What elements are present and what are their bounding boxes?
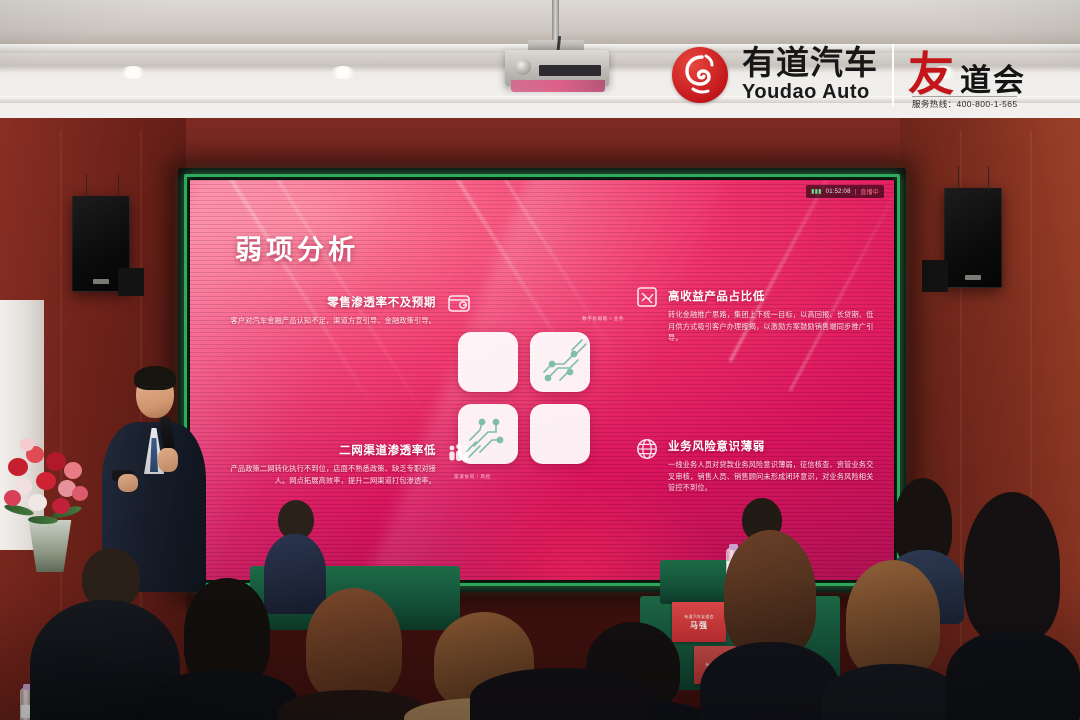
speaker-wire-right xyxy=(958,166,959,190)
speaker-arm-right xyxy=(922,260,948,292)
floral-arrangement xyxy=(2,428,106,560)
globe-icon xyxy=(634,436,660,462)
ceiling-recess xyxy=(0,0,1080,44)
block-body: 产品政策二网转化执行不到位，店面不熟悉政策、缺乏专职对接人。网点拓展高效率，提升… xyxy=(226,463,436,486)
block-heading: 二网渠道渗透率低 xyxy=(226,442,436,458)
audience-member-front-2 xyxy=(148,578,298,720)
projector-reflection xyxy=(511,80,605,92)
primary-brand-text: 有道汽车 Youdao Auto xyxy=(742,46,878,104)
slide-streak-6 xyxy=(789,180,894,391)
block-heading: 业务风险意识薄弱 xyxy=(668,438,878,454)
brand-english: Youdao Auto xyxy=(742,81,878,104)
flower-petal-1 xyxy=(8,458,28,476)
audience-member-front-9 xyxy=(470,668,650,720)
flower-petal-8 xyxy=(4,490,21,506)
slide-title: 弱项分析 xyxy=(235,228,359,267)
signal-bars-icon: ▮▮▮ xyxy=(811,188,822,195)
speaker-wire-left xyxy=(86,174,87,198)
flower-petal-10 xyxy=(52,498,70,514)
block-body: 转化金融推广思路，集团上下统一目标，以高回报、长贷期、低月供方式吸引客户办理按揭… xyxy=(668,309,878,344)
presenter-glasses xyxy=(139,386,171,393)
projector-ports xyxy=(539,65,601,76)
logo-bar: 有道汽车 Youdao Auto 友 道会 服务热线：400-800-1-565 xyxy=(672,44,1026,106)
center-graphic: 数字化赋能 / 业务 xyxy=(458,332,590,464)
chart-decline-icon xyxy=(634,284,660,310)
block-heading: 零售渗透率不及预期 xyxy=(226,294,436,310)
wallet-icon xyxy=(446,290,472,316)
flower-petal-4 xyxy=(64,462,82,479)
center-caption-top: 数字化赋能 / 业务 xyxy=(582,316,624,322)
flower-petal-6 xyxy=(36,472,56,490)
live-timer: 01:52:08 xyxy=(826,189,851,195)
live-status-text: 直播中 xyxy=(860,187,879,196)
audience-hair xyxy=(964,492,1060,642)
youdao-emblem-icon xyxy=(672,47,728,103)
audience-body xyxy=(700,642,840,720)
audience-body xyxy=(822,664,962,720)
slide-block-secondary-channel: 二网渠道渗透率低 产品政策二网转化执行不到位，店面不熟悉政策、缺乏专职对接人。网… xyxy=(226,442,436,486)
slide-block-high-yield-share: 高收益产品占比低 转化金融推广思路，集团上下统一目标，以高回报、长贷期、低月供方… xyxy=(668,288,878,344)
brand-chinese: 有道汽车 xyxy=(742,46,878,79)
flower-petal-3 xyxy=(46,452,66,471)
logo-divider xyxy=(892,44,894,106)
audience-body xyxy=(470,668,650,720)
tile-plain-1 xyxy=(458,332,518,392)
hotline-text: 服务热线：400-800-1-565 xyxy=(912,96,1017,110)
brand-daohui-chars: 道会 xyxy=(960,65,1026,96)
audience-member-front-8 xyxy=(946,492,1080,720)
brand-you-char: 友 xyxy=(908,54,954,95)
scene-root: 有道汽车 Youdao Auto 友 道会 服务热线：400-800-1-565 xyxy=(0,0,1080,720)
downlight-1 xyxy=(120,66,146,79)
center-caption-bottom: 渠道协同 / 风控 xyxy=(454,474,491,480)
block-heading: 高收益产品占比低 xyxy=(668,288,878,304)
tile-circuit-1 xyxy=(530,332,590,392)
live-separator: | xyxy=(855,189,857,195)
people-group-icon xyxy=(446,440,472,466)
projector xyxy=(505,50,609,86)
audience-hair xyxy=(306,588,402,700)
slide-block-risk-awareness: 业务风险意识薄弱 一线业务人员对贷款业务风险意识薄弱，征信核查、资管业务交叉审核… xyxy=(668,438,878,494)
presenter-other-hand xyxy=(118,474,138,492)
audience-hair xyxy=(846,560,940,676)
audience-member-front-6 xyxy=(700,530,840,720)
presenter-mic-hand xyxy=(158,448,178,472)
secondary-brand: 友 道会 服务热线：400-800-1-565 xyxy=(908,54,1026,95)
block-body: 一线业务人员对贷款业务风险意识薄弱，征信核查、资管业务交叉审核，销售人员、销售顾… xyxy=(668,459,878,494)
flower-petal-11 xyxy=(72,486,88,501)
speaker-arm-left xyxy=(118,268,144,296)
speaker-badge-left xyxy=(93,279,109,284)
flower-petal-9 xyxy=(28,494,47,511)
live-status-badge: ▮▮▮ 01:52:08 | 直播中 xyxy=(806,185,884,198)
audience-body xyxy=(946,630,1080,720)
audience-body xyxy=(148,670,298,720)
block-body: 客户对汽车金融产品认知不足，渠道方宣引导、金融政策引导。 xyxy=(226,315,436,327)
wall-speaker-right xyxy=(944,188,1002,288)
audience-member-front-7 xyxy=(822,560,962,720)
projector-lens-icon xyxy=(515,59,531,75)
speaker-badge-right xyxy=(965,275,981,280)
speaker-wire-left2 xyxy=(118,174,119,198)
speaker-wire-right2 xyxy=(988,166,989,190)
tile-plain-2 xyxy=(530,404,590,464)
slide-block-retail-penetration: 零售渗透率不及预期 客户对汽车金融产品认知不足，渠道方宣引导、金融政策引导。 xyxy=(226,294,436,327)
flower-petal-12 xyxy=(20,438,34,451)
audience-hair xyxy=(724,530,816,656)
downlight-2 xyxy=(330,66,356,79)
